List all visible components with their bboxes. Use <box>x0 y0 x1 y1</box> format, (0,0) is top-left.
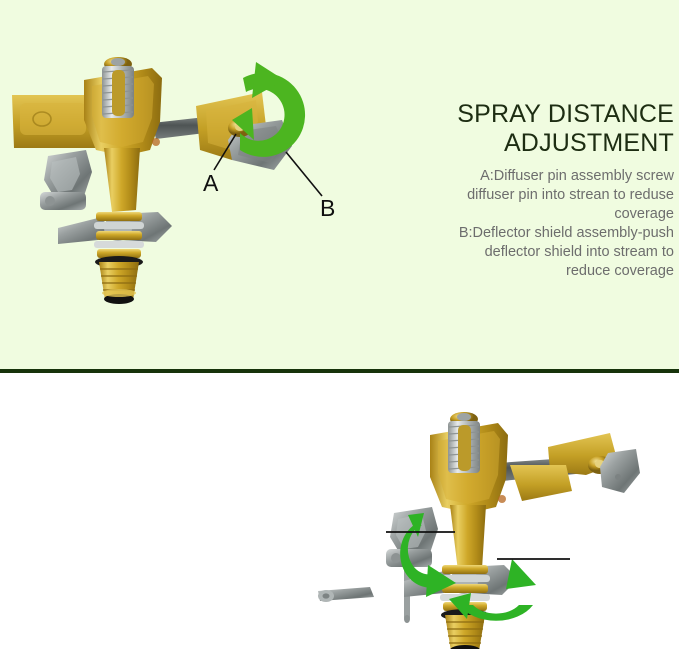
spray-distance-heading: SPRAY DISTANCE ADJUSTMENT <box>382 100 674 158</box>
trip-pin-arrow-icon <box>400 513 456 597</box>
body-line: B:Deflector shield assembly-push <box>459 225 674 241</box>
collar-rotate-arrow-icon <box>449 559 536 621</box>
heading-line-1: SPRAY DISTANCE <box>457 100 674 128</box>
body-line: deflector shield into stream to <box>485 244 674 260</box>
label-b-top: B <box>320 197 335 220</box>
spray-distance-text-block: SPRAY DISTANCE ADJUSTMENT A:Diffuser pin… <box>382 100 674 281</box>
deflector-shield-part <box>228 120 292 170</box>
body-line: A:Diffuser pin assembly screw <box>480 168 674 184</box>
label-a-top: A <box>203 172 218 195</box>
heading-line-2: ADJUSTMENT <box>382 129 674 158</box>
body-line: reduce coverage <box>566 263 674 279</box>
spray-distance-body: A:Diffuser pin assembly screw diffuser p… <box>382 167 674 281</box>
sprinkler-body-top <box>12 57 266 304</box>
body-line: diffuser pin into strean to reduse <box>467 187 674 203</box>
leader-lines-bottom <box>386 532 570 559</box>
leader-lines-top <box>214 134 322 196</box>
infographic-page: A B SPRAY DISTANCE ADJUSTMENT A:Diffuser… <box>0 0 679 649</box>
panel-spray-distance: A B SPRAY DISTANCE ADJUSTMENT A:Diffuser… <box>0 0 679 369</box>
panel-part-circle: A B PART CIRCLE ADJUSTMENT A:Push the tr… <box>0 373 679 649</box>
sprinkler-body-bottom <box>318 412 640 649</box>
body-line: coverage <box>614 206 674 222</box>
sprinkler-image-bottom <box>0 373 679 649</box>
diffuser-pin-screw-part <box>228 119 252 137</box>
rotation-arrow-icon <box>232 62 305 157</box>
